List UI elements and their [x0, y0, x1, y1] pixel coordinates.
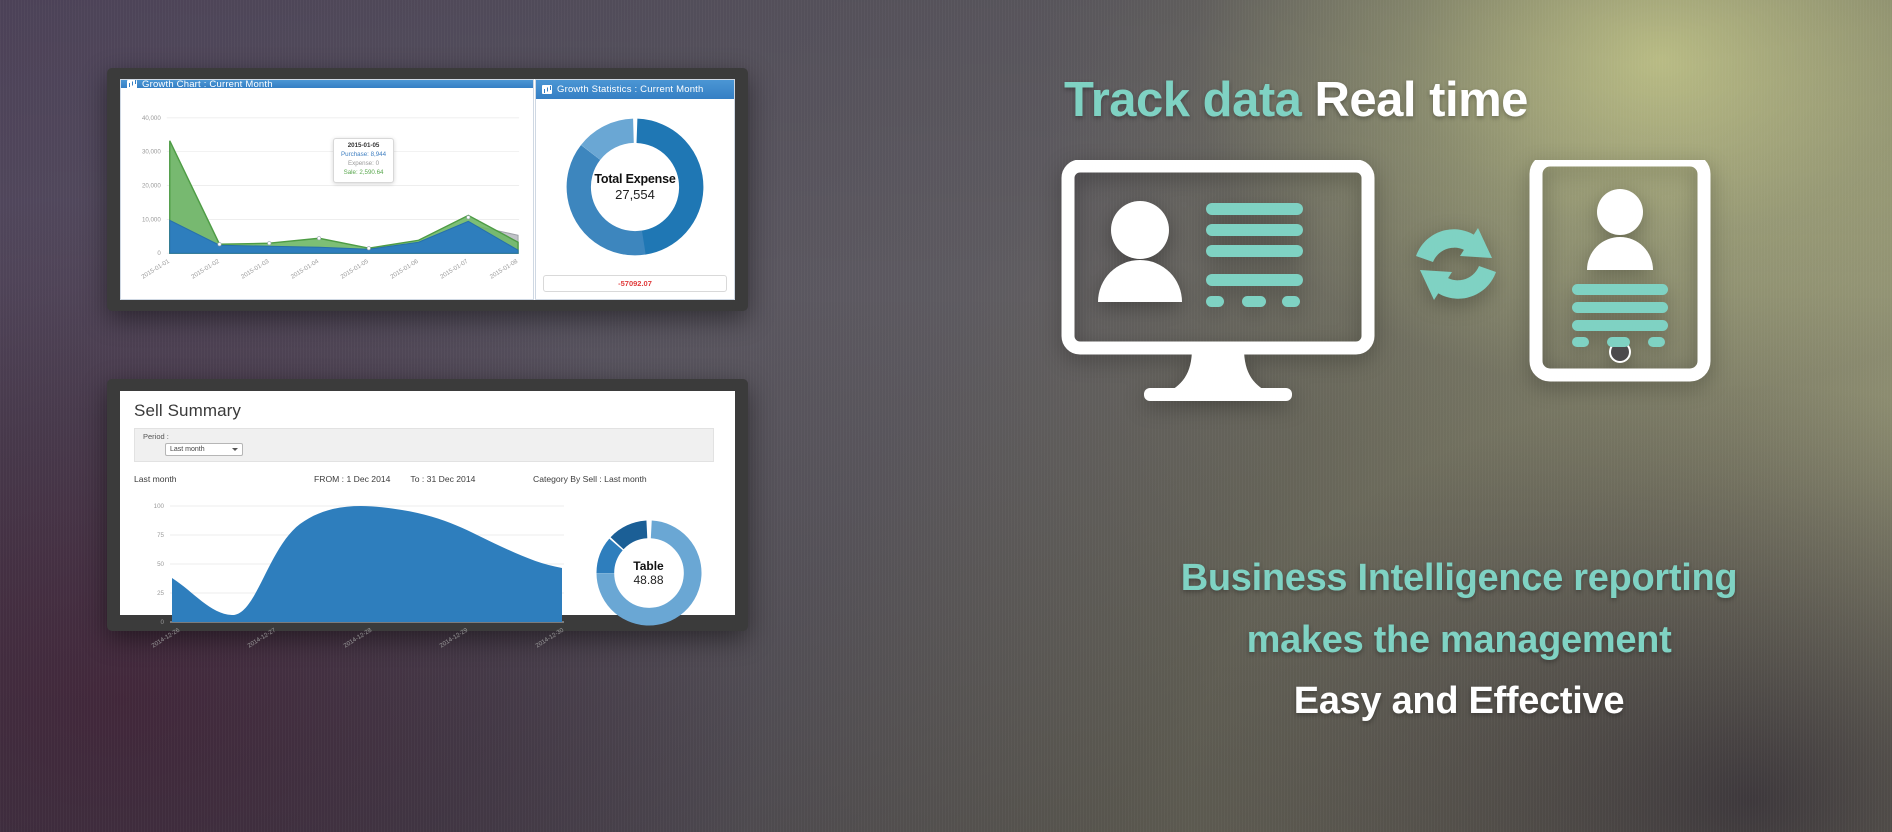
period-label: Period : — [143, 432, 705, 441]
bar-chart-icon — [542, 85, 552, 94]
svg-text:10,000: 10,000 — [142, 216, 161, 223]
tagline-line-1: Business Intelligence reporting — [944, 548, 1892, 610]
sync-arrows-icon — [1416, 228, 1496, 300]
tablet-icon — [1536, 160, 1704, 375]
svg-text:30,000: 30,000 — [142, 149, 161, 156]
growth-chart-panel: Growth Chart : Current Month 40,000 30,0… — [120, 79, 534, 300]
devices-svg — [1060, 160, 1780, 450]
tagline-line-3: Easy and Effective — [944, 671, 1892, 733]
svg-text:2015-01-03: 2015-01-03 — [240, 258, 271, 281]
summary-legend: Last month FROM : 1 Dec 2014 To : 31 Dec… — [134, 474, 723, 484]
tooltip-purchase: Purchase: 8,944 — [341, 151, 386, 160]
legend-period: Last month — [134, 474, 314, 484]
legend-category-title: Category By Sell : Last month — [533, 474, 723, 484]
growth-statistics-title: Growth Statistics : Current Month — [557, 84, 704, 95]
svg-text:2015-01-05: 2015-01-05 — [339, 258, 370, 281]
tooltip-expense: Expense: 0 — [341, 160, 386, 169]
svg-text:2015-01-04: 2015-01-04 — [290, 258, 321, 281]
svg-text:100: 100 — [154, 503, 165, 510]
dashboard-screenshot-bottom: Sell Summary Period : Last month Last mo… — [107, 379, 748, 631]
svg-text:20,000: 20,000 — [142, 183, 161, 190]
category-by-sell-donut — [590, 514, 708, 632]
growth-statistics-header: Growth Statistics : Current Month — [536, 80, 734, 99]
page-title: Sell Summary — [134, 401, 723, 421]
tagline-line-2: makes the management — [944, 610, 1892, 672]
svg-text:0: 0 — [157, 250, 161, 257]
growth-chart-title: Growth Chart : Current Month — [142, 80, 273, 88]
sell-summary-panel: Sell Summary Period : Last month Last mo… — [120, 391, 735, 615]
growth-chart-body: 40,000 30,000 20,000 10,000 0 — [121, 88, 533, 299]
growth-statistics-panel: Growth Statistics : Current Month Total … — [535, 79, 735, 300]
dashboard-screenshot-top: Growth Chart : Current Month 40,000 30,0… — [107, 68, 748, 311]
svg-text:2014-12-26: 2014-12-26 — [151, 626, 182, 649]
period-select[interactable]: Last month — [165, 443, 243, 456]
period-filter-bar: Period : Last month — [134, 428, 714, 462]
headline: Track data Real time — [1064, 72, 1854, 128]
svg-text:2014-12-29: 2014-12-29 — [439, 626, 470, 649]
svg-text:2015-01-07: 2015-01-07 — [439, 258, 470, 281]
svg-text:2015-01-02: 2015-01-02 — [190, 258, 221, 281]
svg-text:40,000: 40,000 — [142, 115, 161, 122]
total-expense-donut — [559, 111, 711, 263]
chart-tooltip: 2015-01-05 Purchase: 8,944 Expense: 0 Sa… — [333, 138, 394, 183]
tooltip-sale: Sale: 2,590.64 — [341, 169, 386, 178]
svg-text:0: 0 — [161, 619, 165, 626]
legend-to-date: To : 31 Dec 2014 — [410, 474, 475, 484]
device-sync-illustration — [1060, 160, 1780, 450]
growth-chart-header: Growth Chart : Current Month — [121, 80, 533, 88]
svg-text:2015-01-06: 2015-01-06 — [389, 258, 420, 281]
growth-statistics-body: Total Expense 27,554 -57092.07 — [536, 99, 734, 299]
svg-text:2015-01-08: 2015-01-08 — [489, 258, 520, 281]
headline-teal: Track data — [1064, 73, 1301, 127]
svg-text:2014-12-27: 2014-12-27 — [247, 626, 278, 649]
sell-summary-area-chart: 100 75 50 25 0 2014-12-26 2014-12-27 201… — [134, 488, 574, 653]
svg-text:75: 75 — [157, 532, 164, 539]
tagline: Business Intelligence reporting makes th… — [944, 548, 1892, 733]
growth-chart-plot: 40,000 30,000 20,000 10,000 0 — [121, 88, 533, 299]
period-select-value: Last month — [170, 446, 205, 453]
bar-chart-icon — [127, 80, 137, 88]
svg-text:2014-12-30: 2014-12-30 — [535, 626, 566, 649]
tooltip-date: 2015-01-05 — [341, 142, 386, 151]
svg-text:25: 25 — [157, 590, 164, 597]
svg-text:2014-12-28: 2014-12-28 — [343, 626, 374, 649]
svg-text:2015-01-01: 2015-01-01 — [140, 258, 171, 281]
desktop-monitor-icon — [1068, 166, 1368, 401]
expense-total-badge: -57092.07 — [543, 275, 727, 292]
headline-white: Real time — [1315, 73, 1528, 127]
chevron-down-icon — [232, 448, 238, 451]
svg-text:50: 50 — [157, 561, 164, 568]
legend-from-date: FROM : 1 Dec 2014 — [314, 474, 390, 484]
